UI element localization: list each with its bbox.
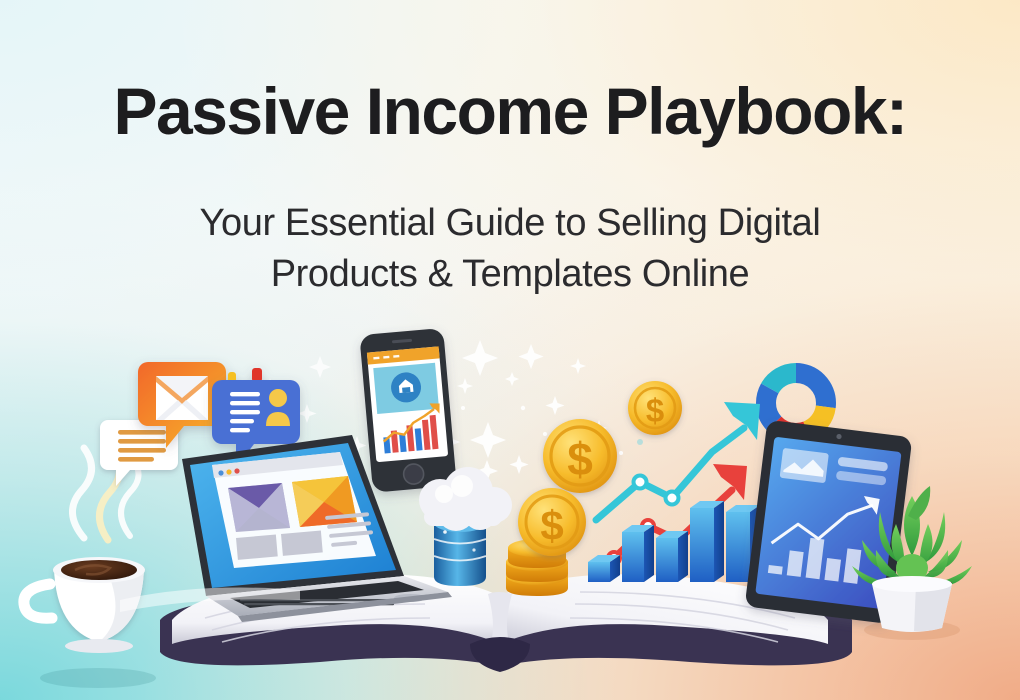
bar (588, 555, 620, 582)
svg-text:$: $ (567, 433, 593, 485)
page-subtitle: Your Essential Guide to Selling Digital … (60, 198, 960, 300)
bar (690, 501, 724, 582)
hero-illustration: $ $ $ (0, 300, 1020, 700)
cloud-database-icon (419, 467, 512, 586)
svg-text:$: $ (646, 392, 664, 429)
envelope-icon (156, 376, 208, 420)
bar (622, 525, 654, 582)
laptop-thumb-right (292, 476, 357, 527)
page-title: Passive Income Playbook: (0, 78, 1020, 145)
page-subtitle-line-2: Products & Templates Online (60, 249, 960, 300)
coffee-cup (24, 448, 156, 688)
plant-pot (872, 576, 952, 632)
svg-text:$: $ (540, 502, 563, 549)
bar (656, 531, 688, 582)
page-subtitle-line-1: Your Essential Guide to Selling Digital (60, 198, 960, 249)
laptop-thumb-left (228, 483, 290, 532)
smartphone[interactable] (359, 328, 456, 493)
